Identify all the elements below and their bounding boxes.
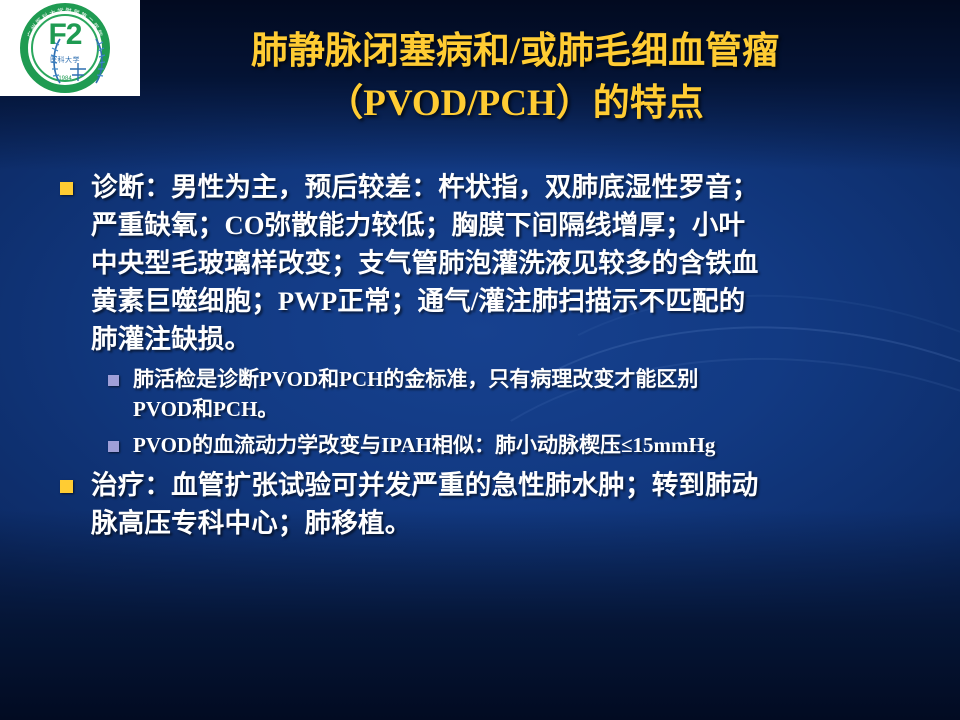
slide-title-line-1: 肺静脉闭塞病和/或肺毛细血管瘤 [110, 26, 920, 78]
bullet-item-treatment: 治疗：血管扩张试验可并发严重的急性肺水肿；转到肺动 脉高压专科中心；肺移植。 [48, 466, 928, 542]
bullet-line: 诊断：男性为主，预后较差：杵状指，双肺底湿性罗音； [91, 168, 928, 206]
bullet-line: 中央型毛玻璃样改变；支气管肺泡灌洗液见较多的含铁血 [91, 244, 928, 282]
presentation-slide: 广州医科大学附属第二医院 GUANGZHOU MEDICAL UNIV. [0, 0, 960, 720]
logo-mark-text: F2 [20, 20, 110, 50]
sub-bullet-text-hemodynamics: PVOD的血流动力学改变与IPAH相似：肺小动脉楔压≤15mmHg [133, 430, 928, 460]
sub-bullet-item-hemodynamics: PVOD的血流动力学改变与IPAH相似：肺小动脉楔压≤15mmHg [48, 430, 928, 460]
bullet-text-diagnosis: 诊断：男性为主，预后较差：杵状指，双肺底湿性罗音； 严重缺氧；CO弥散能力较低；… [91, 168, 928, 358]
square-bullet-icon [108, 375, 119, 386]
sub-bullet-line: PVOD的血流动力学改变与IPAH相似：肺小动脉楔压≤15mmHg [133, 430, 928, 460]
square-bullet-icon [108, 441, 119, 452]
bullet-text-treatment: 治疗：血管扩张试验可并发严重的急性肺水肿；转到肺动 脉高压专科中心；肺移植。 [91, 466, 928, 542]
sub-bullet-item-lung-biopsy: 肺活检是诊断PVOD和PCH的金标准，只有病理改变才能区别 PVOD和PCH。 [48, 364, 928, 424]
logo-year-text: 1984 [20, 76, 110, 82]
slide-title-line-2: （PVOD/PCH）的特点 [110, 78, 920, 130]
sub-bullet-line: PVOD和PCH。 [133, 394, 928, 424]
university-emblem-logo: 广州医科大学附属第二医院 GUANGZHOU MEDICAL UNIV. [20, 3, 110, 93]
bullet-line: 黄素巨噬细胞；PWP正常；通气/灌注肺扫描示不匹配的 [91, 282, 928, 320]
sub-bullet-text-lung-biopsy: 肺活检是诊断PVOD和PCH的金标准，只有病理改变才能区别 PVOD和PCH。 [133, 364, 928, 424]
logo-container: 广州医科大学附属第二医院 GUANGZHOU MEDICAL UNIV. [0, 0, 140, 96]
bullet-line: 肺灌注缺损。 [91, 320, 928, 358]
square-bullet-icon [60, 182, 73, 195]
bullet-item-diagnosis: 诊断：男性为主，预后较差：杵状指，双肺底湿性罗音； 严重缺氧；CO弥散能力较低；… [48, 168, 928, 358]
sub-bullet-list: 肺活检是诊断PVOD和PCH的金标准，只有病理改变才能区别 PVOD和PCH。 … [48, 364, 928, 460]
bullet-line: 严重缺氧；CO弥散能力较低；胸膜下间隔线增厚；小叶 [91, 206, 928, 244]
sub-bullet-line: 肺活检是诊断PVOD和PCH的金标准，只有病理改变才能区别 [133, 364, 928, 394]
slide-title: 肺静脉闭塞病和/或肺毛细血管瘤 （PVOD/PCH）的特点 [110, 26, 920, 130]
bullet-line: 脉高压专科中心；肺移植。 [91, 504, 928, 542]
bullet-line: 治疗：血管扩张试验可并发严重的急性肺水肿；转到肺动 [91, 466, 928, 504]
slide-body: 诊断：男性为主，预后较差：杵状指，双肺底湿性罗音； 严重缺氧；CO弥散能力较低；… [48, 168, 928, 542]
logo-sub-text: 医科大学 [20, 55, 110, 65]
square-bullet-icon [60, 480, 73, 493]
